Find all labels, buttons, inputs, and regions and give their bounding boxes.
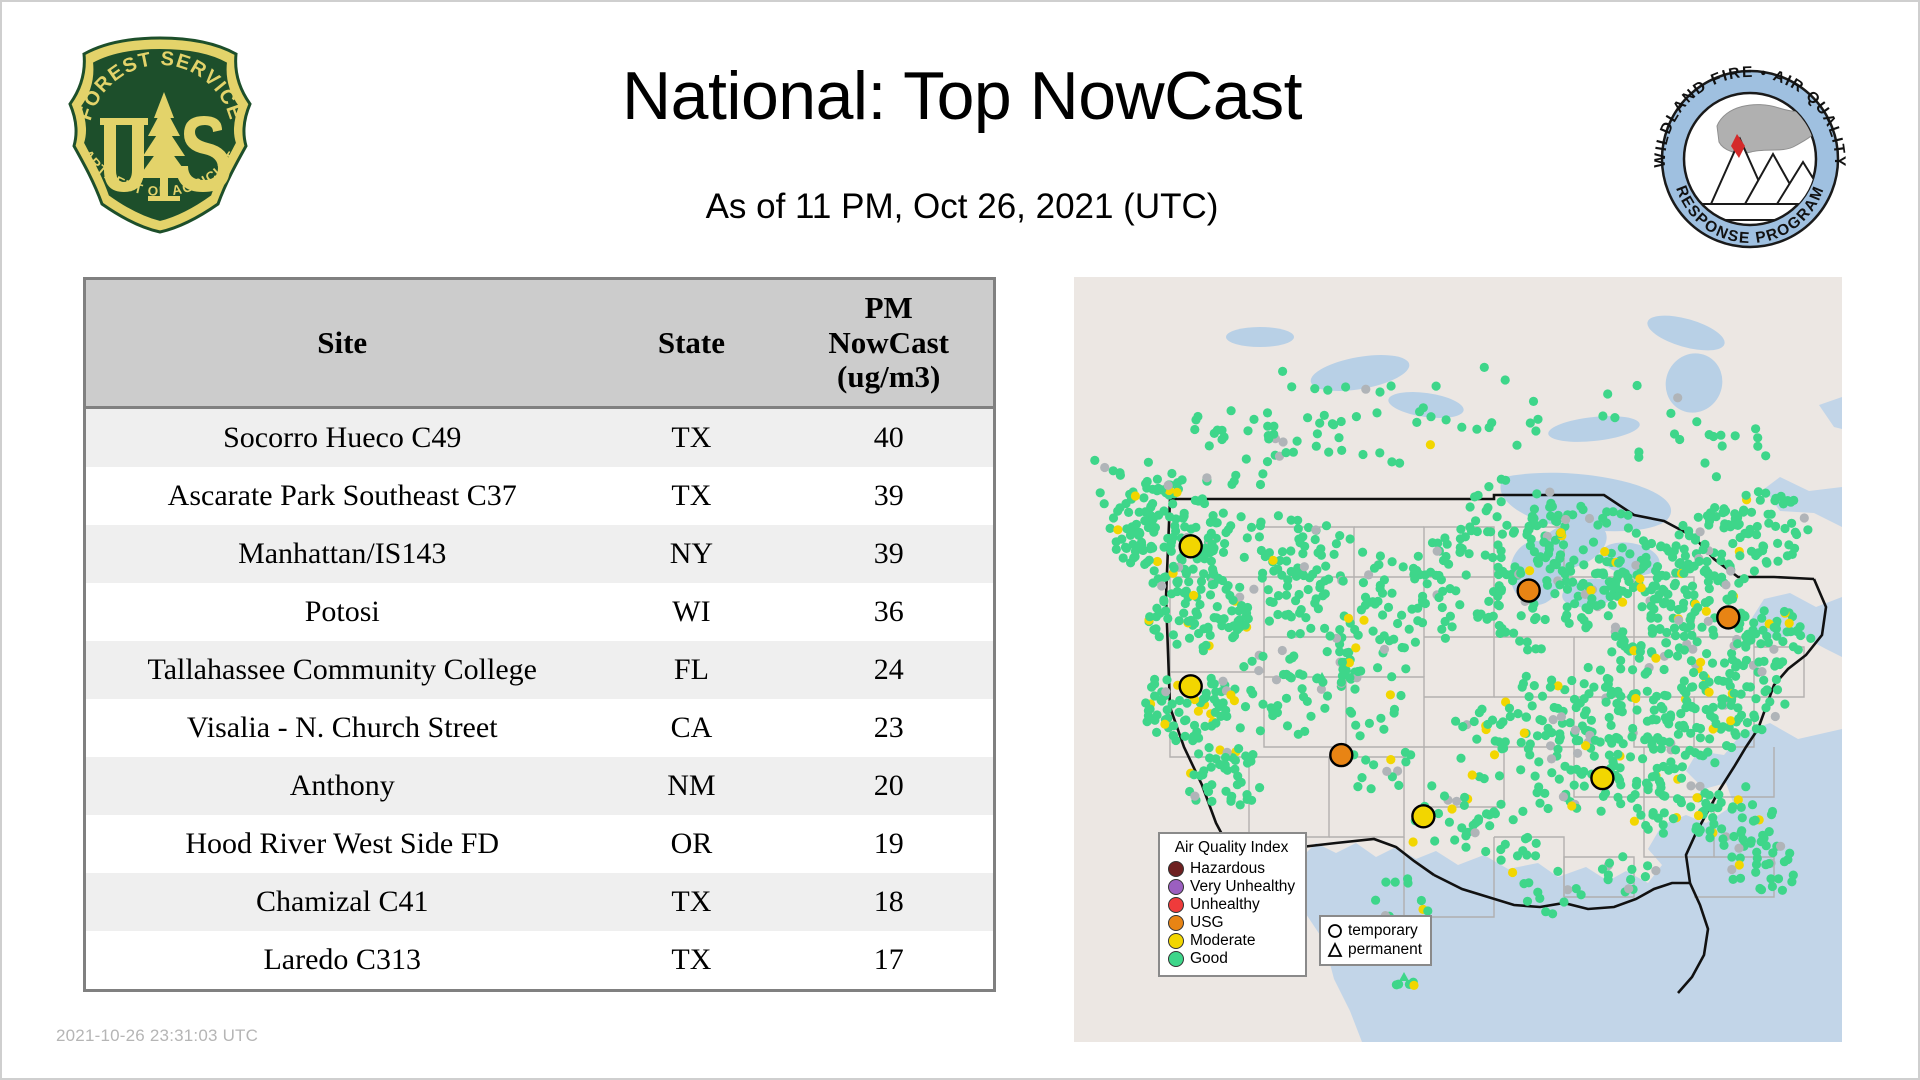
monitor-dot [1708, 626, 1717, 635]
monitor-dot [1609, 507, 1618, 516]
monitor-dot [1695, 782, 1704, 791]
monitor-dot [1516, 765, 1525, 774]
monitor-dot [1703, 568, 1712, 577]
monitor-dot [1751, 868, 1760, 877]
monitor-dot [1376, 714, 1385, 723]
monitor-dot [1470, 717, 1479, 726]
monitor-dot [1379, 725, 1388, 734]
monitor-dot [1604, 611, 1613, 620]
monitor-dot [1752, 530, 1761, 539]
monitor-dot [1161, 687, 1170, 696]
monitor-dot [1175, 616, 1184, 625]
monitor-dot [1358, 450, 1367, 459]
monitor-dot [1647, 539, 1656, 548]
monitor-dot [1438, 587, 1447, 596]
aqi-legend-label: Good [1190, 951, 1228, 967]
monitor-dot [1610, 413, 1619, 422]
monitor-dot [1674, 616, 1683, 625]
monitor-dot [1230, 765, 1239, 774]
monitor-dot [1249, 585, 1258, 594]
monitor-dot [1607, 721, 1616, 730]
pm-cell: 19 [784, 815, 993, 873]
monitor-dot [1361, 755, 1370, 764]
monitor-dot [1240, 553, 1249, 562]
monitor-dot [1521, 834, 1530, 843]
monitor-dot [1146, 502, 1155, 511]
monitor-dot [1680, 676, 1689, 685]
top-nowcast-table-container: Site State PM NowCast (ug/m3) Socorro Hu… [83, 277, 996, 992]
monitor-dot [1522, 672, 1531, 681]
monitor-dot [1466, 502, 1475, 511]
monitor-dot [1770, 496, 1779, 505]
monitor-dot [1381, 878, 1390, 887]
monitor-dot [1231, 471, 1240, 480]
monitor-dot [1772, 657, 1781, 666]
monitor-dot [1293, 516, 1302, 525]
monitor-dot [1720, 658, 1729, 667]
monitor-dot [1727, 852, 1736, 861]
monitor-dot [1475, 708, 1484, 717]
monitor-dot [1528, 701, 1537, 710]
monitor-dot [1180, 522, 1189, 531]
monitor-dot [1742, 682, 1751, 691]
monitor-dot [1680, 645, 1689, 654]
monitor-dot [1675, 435, 1684, 444]
monitor-dot [1485, 821, 1494, 830]
monitor-dot [1283, 575, 1292, 584]
monitor-dot [1687, 656, 1696, 665]
monitor-dot [1287, 382, 1296, 391]
monitor-dot [1705, 791, 1714, 800]
monitor-dot [1778, 886, 1787, 895]
pm-cell: 36 [784, 583, 993, 641]
monitor-dot [1520, 728, 1529, 737]
monitor-dot [1124, 508, 1133, 517]
triangle-icon [1327, 942, 1343, 958]
monitor-dot [1742, 639, 1751, 648]
pm-header-line-2: NowCast [784, 326, 993, 361]
monitor-dot [1734, 844, 1743, 853]
monitor-dot [1719, 508, 1728, 517]
monitor-dot [1311, 535, 1320, 544]
monitor-dot [1456, 543, 1465, 552]
monitor-dot [1757, 725, 1766, 734]
monitor-dot [1666, 599, 1675, 608]
monitor-dot [1780, 857, 1789, 866]
monitor-dot [1534, 757, 1543, 766]
monitor-dot [1395, 459, 1404, 468]
monitor-dot [1780, 700, 1789, 709]
monitor-dot [1388, 557, 1397, 566]
monitor-dot [1376, 551, 1385, 560]
monitor-dot [1455, 600, 1464, 609]
monitor-dot [1458, 722, 1467, 731]
monitor-dot [1641, 872, 1650, 881]
monitor-dot [1337, 446, 1346, 455]
monitor-dot [1522, 850, 1531, 859]
aqi-legend-label: Moderate [1190, 933, 1255, 949]
monitor-dot [1169, 630, 1178, 639]
monitor-dot [1258, 469, 1267, 478]
monitor-dot [1182, 699, 1191, 708]
monitor-dot [1273, 708, 1282, 717]
monitor-dot [1457, 423, 1466, 432]
monitor-dot [1237, 512, 1246, 521]
monitor-dot [1579, 560, 1588, 569]
monitor-dot [1717, 700, 1726, 709]
monitor-dot [1649, 808, 1658, 817]
monitor-dot [1341, 382, 1350, 391]
monitor-dot [1643, 861, 1652, 870]
monitor-dot [1760, 606, 1769, 615]
monitor-dot [1613, 750, 1622, 759]
monitor-dot [1496, 800, 1505, 809]
monitor-dot [1168, 499, 1177, 508]
top-site-marker[interactable] [1717, 606, 1739, 628]
monitor-dot [1572, 736, 1581, 745]
monitor-dot [1254, 666, 1263, 675]
monitor-dot [1742, 491, 1751, 500]
aqi-swatch-icon [1168, 951, 1184, 967]
monitor-dot [1532, 839, 1541, 848]
monitor-dot [1221, 760, 1230, 769]
monitor-dot [1677, 774, 1686, 783]
monitor-dot [1643, 687, 1652, 696]
monitor-dot [1414, 552, 1423, 561]
monitor-dot [1749, 816, 1758, 825]
monitor-dot [1113, 525, 1122, 534]
monitor-dot [1689, 668, 1698, 677]
monitor-dot [1601, 683, 1610, 692]
monitor-dot [1312, 442, 1321, 451]
monitor-dot [1735, 551, 1744, 560]
monitor-dot [1718, 441, 1727, 450]
monitor-dot [1685, 531, 1694, 540]
air-quality-map[interactable]: Air Quality Index HazardousVery Unhealth… [1074, 277, 1842, 1042]
monitor-dot [1321, 562, 1330, 571]
monitor-dot [1351, 643, 1360, 652]
monitor-dot [1206, 590, 1215, 599]
monitor-dot [1517, 738, 1526, 747]
monitor-dot [1311, 525, 1320, 534]
monitor-dot [1180, 716, 1189, 725]
monitor-dot [1682, 697, 1691, 706]
monitor-dot [1702, 607, 1711, 616]
page-subtitle: As of 11 PM, Oct 26, 2021 (UTC) [2, 187, 1920, 227]
monitor-dot [1153, 475, 1162, 484]
monitor-dot [1205, 441, 1214, 450]
monitor-dot [1803, 525, 1812, 534]
table-row: Tallahassee Community CollegeFL24 [86, 641, 993, 699]
monitor-dot [1090, 456, 1099, 465]
monitor-dot [1518, 807, 1527, 816]
monitor-dot [1224, 525, 1233, 534]
top-site-marker[interactable] [1518, 580, 1540, 602]
monitor-dot [1749, 618, 1758, 627]
monitor-dot [1628, 665, 1637, 674]
monitor-dot [1387, 381, 1396, 390]
monitor-dot [1472, 425, 1481, 434]
monitor-dot [1211, 719, 1220, 728]
monitor-dot [1169, 721, 1178, 730]
monitor-dot [1437, 625, 1446, 634]
monitor-dot [1632, 529, 1641, 538]
monitor-dot [1785, 619, 1794, 628]
monitor-dot [1306, 624, 1315, 633]
monitor-dot [1522, 713, 1531, 722]
monitor-dot [1255, 783, 1264, 792]
monitor-dot [1620, 637, 1629, 646]
monitor-dot [1193, 412, 1202, 421]
monitor-dot [1265, 617, 1274, 626]
symbol-legend: temporary permanent [1319, 915, 1432, 966]
monitor-dot [1671, 579, 1680, 588]
monitor-dot [1427, 781, 1436, 790]
monitor-dot [1646, 614, 1655, 623]
monitor-dot [1571, 726, 1580, 735]
monitor-dot [1496, 845, 1505, 854]
monitor-dot [1291, 596, 1300, 605]
monitor-dot [1373, 663, 1382, 672]
monitor-dot [1556, 528, 1565, 537]
aqi-legend-label: USG [1190, 915, 1224, 931]
monitor-dot [1387, 457, 1396, 466]
monitor-dot [1167, 589, 1176, 598]
state-cell: TX [598, 467, 784, 525]
monitor-dot [1685, 746, 1694, 755]
monitor-dot [1606, 690, 1615, 699]
monitor-dot [1565, 619, 1574, 628]
monitor-dot [1580, 710, 1589, 719]
monitor-dot [1581, 603, 1590, 612]
monitor-dot [1704, 520, 1713, 529]
top-site-marker[interactable] [1180, 675, 1202, 697]
monitor-dot [1386, 755, 1395, 764]
monitor-dot [1727, 701, 1736, 710]
monitor-dot [1783, 627, 1792, 636]
monitor-dot [1771, 712, 1780, 721]
monitor-dot [1256, 726, 1265, 735]
table-row: Socorro Hueco C49TX40 [86, 408, 993, 468]
monitor-dot [1163, 705, 1172, 714]
monitor-dot [1317, 551, 1326, 560]
monitor-dot [1534, 559, 1543, 568]
monitor-dot [1694, 513, 1703, 522]
monitor-dot [1611, 623, 1620, 632]
monitor-dot [1345, 673, 1354, 682]
monitor-dot [1100, 499, 1109, 508]
monitor-dot [1375, 448, 1384, 457]
monitor-dot [1660, 792, 1669, 801]
monitor-dot [1541, 731, 1550, 740]
monitor-dot [1157, 696, 1166, 705]
monitor-dot [1718, 834, 1727, 843]
top-site-marker[interactable] [1591, 767, 1613, 789]
monitor-dot [1279, 670, 1288, 679]
monitor-dot [1484, 597, 1493, 606]
table-body: Socorro Hueco C49TX40Ascarate Park South… [86, 408, 993, 990]
aqi-swatch-icon [1168, 933, 1184, 949]
monitor-dot [1531, 851, 1540, 860]
monitor-dot [1491, 736, 1500, 745]
monitor-dot [1632, 705, 1641, 714]
monitor-dot [1397, 611, 1406, 620]
monitor-dot [1666, 757, 1675, 766]
monitor-dot [1221, 787, 1230, 796]
monitor-dot [1618, 543, 1627, 552]
monitor-dot [1531, 426, 1540, 435]
monitor-dot [1796, 631, 1805, 640]
monitor-dot [1151, 523, 1160, 532]
monitor-dot [1393, 619, 1402, 628]
monitor-dot [1164, 481, 1173, 490]
monitor-dot [1525, 692, 1534, 701]
monitor-dot [1518, 683, 1527, 692]
monitor-dot [1584, 689, 1593, 698]
monitor-dot [1637, 641, 1646, 650]
monitor-dot [1680, 632, 1689, 641]
monitor-dot [1170, 563, 1179, 572]
monitor-dot [1354, 631, 1363, 640]
monitor-dot [1513, 709, 1522, 718]
monitor-dot [1358, 548, 1367, 557]
monitor-dot [1332, 539, 1341, 548]
monitor-dot [1541, 615, 1550, 624]
monitor-dot [1405, 625, 1414, 634]
state-cell: TX [598, 408, 784, 468]
monitor-dot [1419, 403, 1428, 412]
monitor-dot [1780, 524, 1789, 533]
monitor-dot [1465, 549, 1474, 558]
monitor-dot [1602, 557, 1611, 566]
monitor-dot [1702, 557, 1711, 566]
top-site-marker[interactable] [1330, 744, 1352, 766]
monitor-dot [1674, 605, 1683, 614]
monitor-dot [1278, 367, 1287, 376]
top-site-marker[interactable] [1412, 805, 1434, 827]
monitor-dot [1641, 670, 1650, 679]
monitor-dot [1367, 784, 1376, 793]
monitor-dot [1692, 723, 1701, 732]
monitor-dot [1489, 612, 1498, 621]
monitor-dot [1337, 678, 1346, 687]
monitor-dot [1555, 775, 1564, 784]
monitor-dot [1671, 631, 1680, 640]
monitor-dot [1664, 766, 1673, 775]
monitor-dot [1538, 692, 1547, 701]
monitor-dot [1205, 743, 1214, 752]
monitor-dot [1132, 520, 1141, 529]
monitor-dot [1652, 715, 1661, 724]
monitor-dot [1730, 728, 1739, 737]
monitor-dot [1213, 602, 1222, 611]
monitor-dot [1761, 489, 1770, 498]
monitor-dot [1508, 576, 1517, 585]
monitor-dot [1396, 691, 1405, 700]
monitor-dot [1313, 429, 1322, 438]
monitor-dot [1328, 419, 1337, 428]
monitor-dot [1207, 557, 1216, 566]
monitor-dot [1589, 538, 1598, 547]
aqi-legend-label: Unhealthy [1190, 897, 1260, 913]
monitor-dot [1700, 458, 1709, 467]
monitor-dot [1227, 480, 1236, 489]
monitor-dot [1190, 792, 1199, 801]
monitor-dot [1714, 790, 1723, 799]
monitor-dot [1346, 707, 1355, 716]
monitor-dot [1672, 541, 1681, 550]
monitor-dot [1236, 723, 1245, 732]
pm-cell: 39 [784, 525, 993, 583]
monitor-dot [1219, 548, 1228, 557]
monitor-dot [1705, 688, 1714, 697]
monitor-dot [1209, 511, 1218, 520]
monitor-dot [1298, 532, 1307, 541]
monitor-dot [1144, 711, 1153, 720]
monitor-dot [1546, 499, 1555, 508]
monitor-dot [1399, 562, 1408, 571]
circle-icon [1327, 923, 1343, 939]
monitor-dot [1106, 524, 1115, 533]
table-header-row: Site State PM NowCast (ug/m3) [86, 280, 993, 408]
monitor-dot [1649, 605, 1658, 614]
monitor-dot [1217, 426, 1226, 435]
top-nowcast-table: Site State PM NowCast (ug/m3) Socorro Hu… [86, 280, 993, 989]
monitor-dot [1712, 719, 1721, 728]
monitor-dot [1740, 612, 1749, 621]
aqi-legend-row: Hazardous [1168, 860, 1295, 878]
monitor-dot [1517, 611, 1526, 620]
monitor-dot [1200, 722, 1209, 731]
monitor-dot [1628, 724, 1637, 733]
monitor-dot [1599, 792, 1608, 801]
monitor-dot [1783, 551, 1792, 560]
monitor-dot [1616, 799, 1625, 808]
monitor-dot [1247, 523, 1256, 532]
monitor-dot [1157, 581, 1166, 590]
state-cell: CA [598, 699, 784, 757]
monitor-dot [1579, 545, 1588, 554]
monitor-dot [1649, 695, 1658, 704]
monitor-dot [1663, 590, 1672, 599]
monitor-dot [1229, 596, 1238, 605]
monitor-dot [1484, 482, 1493, 491]
monitor-dot [1705, 677, 1714, 686]
monitor-dot [1474, 491, 1483, 500]
column-header-state: State [598, 280, 784, 408]
monitor-dot [1278, 547, 1287, 556]
monitor-dot [1688, 645, 1697, 654]
monitor-dot [1710, 758, 1719, 767]
pm-header-line-3: (ug/m3) [784, 360, 993, 395]
monitor-dot [1322, 521, 1331, 530]
monitor-dot [1679, 569, 1688, 578]
top-site-marker[interactable] [1180, 535, 1202, 557]
monitor-dot [1483, 527, 1492, 536]
monitor-dot [1199, 624, 1208, 633]
monitor-dot [1692, 822, 1701, 831]
site-cell: Potosi [86, 583, 598, 641]
monitor-dot [1378, 589, 1387, 598]
monitor-dot [1712, 472, 1721, 481]
pm-cell: 24 [784, 641, 993, 699]
monitor-dot [1180, 511, 1189, 520]
pm-cell: 18 [784, 873, 993, 931]
monitor-dot [1618, 707, 1627, 716]
monitor-dot [1770, 623, 1779, 632]
monitor-dot [1426, 412, 1435, 421]
monitor-dot [1501, 375, 1510, 384]
